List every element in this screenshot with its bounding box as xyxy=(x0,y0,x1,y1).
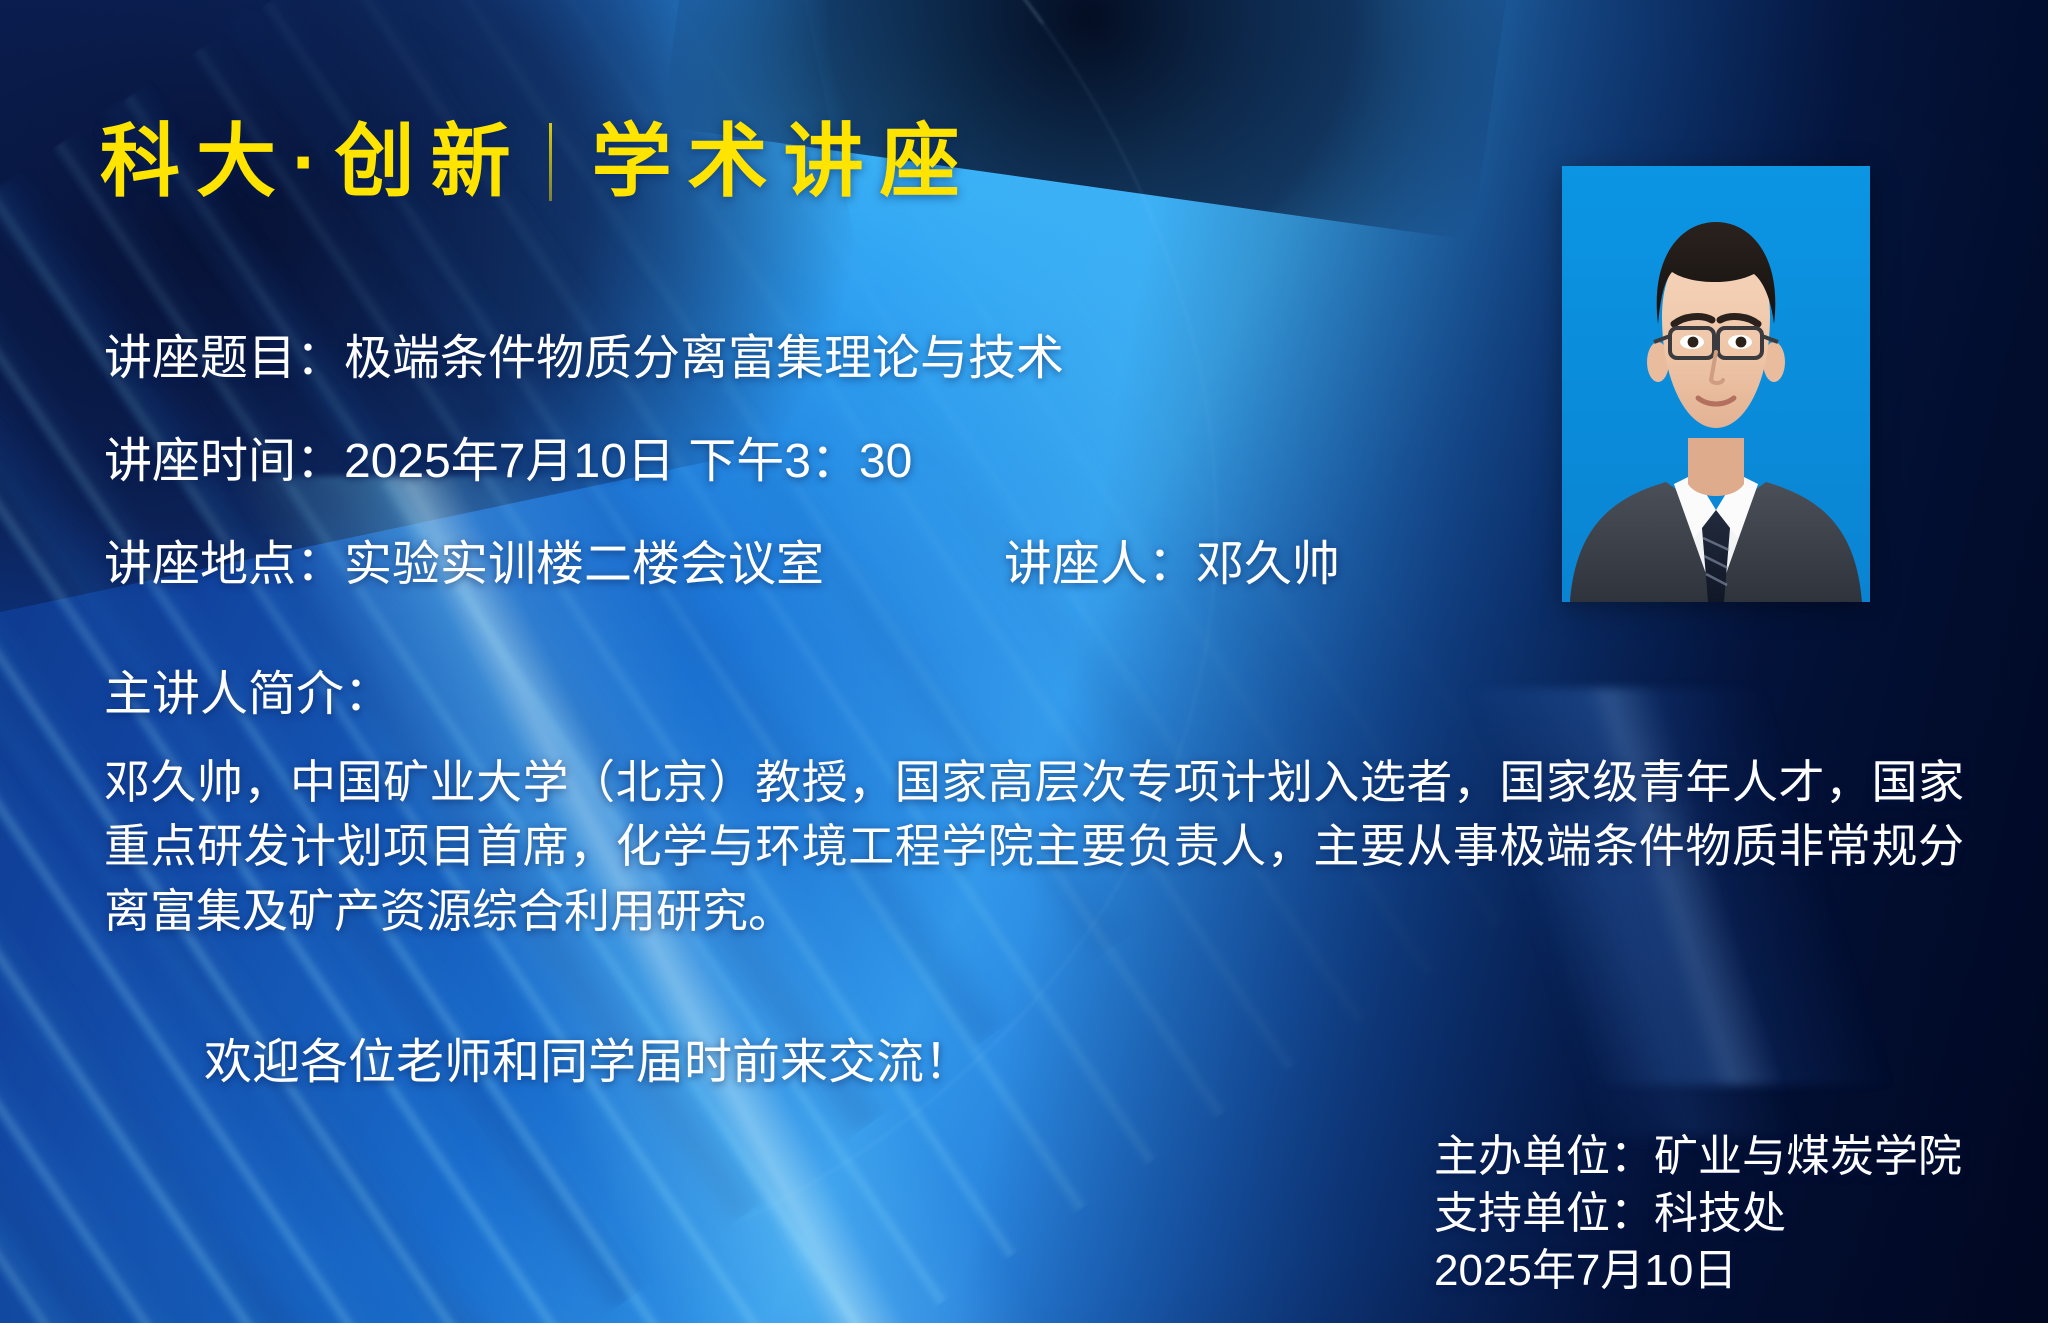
poster-title: 科大·创新 学术讲座 xyxy=(100,122,976,202)
lecture-place-line: 讲座地点：实验实训楼二楼会议室讲座人：邓久帅 xyxy=(104,540,1524,591)
lecture-time-label: 讲座时间： xyxy=(104,435,344,488)
spacer xyxy=(824,540,1004,591)
lecture-speaker-label: 讲座人： xyxy=(1004,540,1196,591)
lecture-time-line: 讲座时间：2025年7月10日 下午3：30 xyxy=(104,437,1524,488)
lecture-topic-line: 讲座题目：极端条件物质分离富集理论与技术 xyxy=(104,334,1524,385)
lecture-place-label: 讲座地点： xyxy=(104,540,344,591)
speaker-bio-text: 邓久帅，中国矿业大学（北京）教授，国家高层次专项计划入选者，国家级青年人才，国家… xyxy=(104,750,1964,943)
lecture-info-block: 讲座题目：极端条件物质分离富集理论与技术 讲座时间：2025年7月10日 下午3… xyxy=(104,334,1524,643)
welcome-message: 欢迎各位老师和同学届时前来交流！ xyxy=(204,1022,972,1092)
lecture-speaker-value: 邓久帅 xyxy=(1196,540,1340,591)
lecture-time-value: 2025年7月10日 下午3：30 xyxy=(344,435,912,488)
portrait-illustration xyxy=(1562,166,1870,602)
footer-host-line: 主办单位：矿业与煤炭学院 xyxy=(1434,1128,1962,1185)
title-brand-main: 科大·创新 xyxy=(100,122,527,202)
lecture-place-value: 实验实训楼二楼会议室 xyxy=(344,540,824,591)
speaker-bio-heading: 主讲人简介： xyxy=(104,654,392,724)
title-divider xyxy=(549,123,552,201)
poster-footer: 主办单位：矿业与煤炭学院 支持单位：科技处 2025年7月10日 xyxy=(1434,1128,1962,1300)
lecture-topic-value: 极端条件物质分离富集理论与技术 xyxy=(344,332,1064,385)
footer-support-line: 支持单位：科技处 xyxy=(1434,1185,1962,1242)
footer-date-line: 2025年7月10日 xyxy=(1434,1242,1962,1299)
speaker-portrait-photo xyxy=(1562,166,1870,602)
lecture-topic-label: 讲座题目： xyxy=(104,332,344,385)
title-brand-sub: 学术讲座 xyxy=(592,122,976,202)
lecture-poster: 科大·创新 学术讲座 讲座题目：极端条件物质分离富集理论与技术 讲座时间：202… xyxy=(0,0,2048,1323)
